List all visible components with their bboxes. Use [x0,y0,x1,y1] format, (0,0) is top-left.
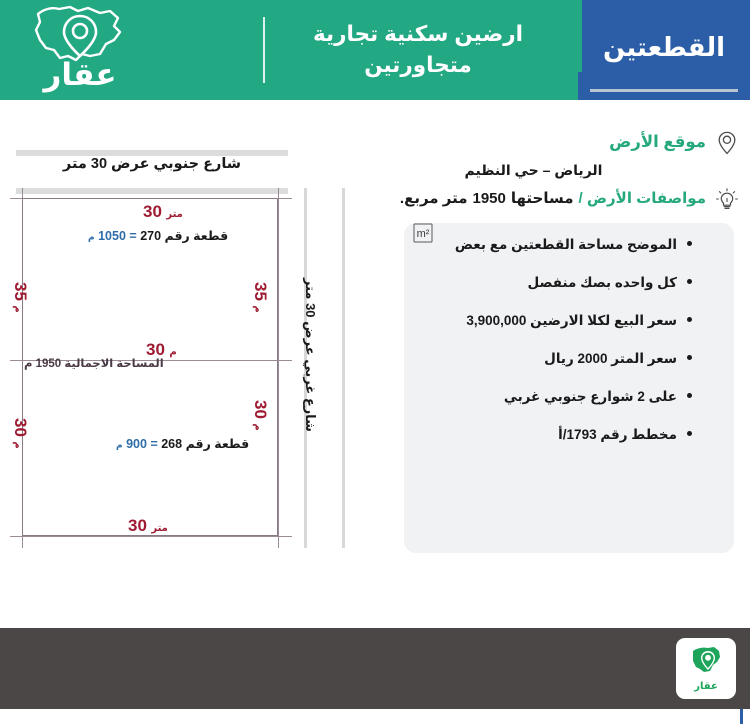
dimension-top-width-value: 30 [143,202,162,221]
header-badge-block: القطعتين [578,0,750,100]
dimension-right-upper: م 35 [250,282,270,313]
list-item-text: على 2 شوارع جنوبي غربي [504,389,677,405]
spec-details-card: m² الموضح مساحة القطعتين مع بعض كل واحده… [404,223,734,553]
list-item: الموضح مساحة القطعتين مع بعض [416,237,722,253]
spec-area-value: 1950 [473,190,506,207]
footer-brand-logo[interactable]: عقار [676,638,736,699]
spec-line: مواصفات الأرض / مساحتها 1950 متر مربع. [400,187,706,207]
bullet-dot-icon [687,431,692,436]
header-vertical-divider [263,17,265,83]
badge-underline [590,89,738,92]
page-body: شارع جنوبي عرض 30 متر متر 30 قطعة رقم 27… [0,100,750,628]
bullet-dot-icon [687,279,692,284]
spec-area-word: مساحتها [511,189,574,207]
dimension-left-upper-value: 35 [11,282,30,301]
spec-label: مواصفات الأرض / [579,189,706,207]
dimension-top-width: متر 30 [143,202,183,222]
lightbulb-icon [714,187,740,213]
lower-plot-area: 900 [126,437,147,451]
location-value: الرياض – حي النظيم [361,162,706,179]
bullet-dot-icon [687,241,692,246]
upper-plot-label-text: قطعة رقم [165,229,229,243]
spec-row: مواصفات الأرض / مساحتها 1950 متر مربع. [395,187,740,213]
land-plot-diagram: شارع جنوبي عرض 30 متر متر 30 قطعة رقم 27… [8,140,348,595]
street-right-band: شارع غربي عرض 30 متر [304,188,346,548]
land-info-panel: موقع الأرض الرياض – حي النظيم مواصفات ال… [395,130,740,610]
upper-plot-unit: م [88,232,95,242]
bullet-dot-icon [687,355,692,360]
dimension-bottom-width: متر 30 [128,516,168,536]
dimension-left-upper: م 35 [10,282,30,313]
spec-bullet-list: الموضح مساحة القطعتين مع بعض كل واحده بص… [416,237,722,443]
list-item-text: سعر البيع لكلا الارضين 3,900,000 [466,313,677,329]
dimension-left-lower-value: 30 [11,418,30,437]
lower-plot-unit: م [116,440,123,450]
bullet-dot-icon [687,393,692,398]
page-title-line2: متجاورتين [364,53,472,77]
upper-plot-area: 1050 [98,229,126,243]
header-green-block: ارضين سكنية تجارية متجاورتين عقار [0,0,578,100]
upper-plot-number: 270 [140,229,161,243]
footer-brand-name: عقار [694,681,718,692]
page-header: القطعتين ارضين سكنية تجارية متجاورتين عق… [0,0,750,100]
square-meter-icon: m² [410,221,434,245]
dimension-left-lower-unit: م [12,441,23,448]
lower-plot-eq: = [150,437,157,451]
dimension-left-lower: م 30 [10,418,30,449]
street-top-band-inner [16,188,288,194]
spec-area-unit: متر مربع. [400,189,468,207]
total-area-label: المساحة الاجمالية 1950 م [24,356,164,370]
page-title: ارضين سكنية تجارية متجاورتين [313,19,523,80]
plot-guide-right [278,188,279,548]
upper-plot-label: قطعة رقم 270 = 1050 م [88,228,228,243]
dimension-top-width-unit: متر [166,209,183,220]
header-badge-title: القطعتين [603,32,725,63]
street-top-label: شارع جنوبي عرض 30 متر [16,156,288,172]
lower-plot-label-text: قطعة رقم [186,437,250,451]
lower-plot-number: 268 [161,437,182,451]
page-footer: عقار [0,628,750,709]
brand-name: عقار [44,62,117,88]
list-item: سعر البيع لكلا الارضين 3,900,000 [416,313,722,329]
svg-text:m²: m² [417,228,430,240]
saudi-map-pin-icon [689,645,723,680]
dimension-right-lower-value: 30 [251,400,270,419]
dimension-bottom-width-value: 30 [128,516,147,535]
list-item: على 2 شوارع جنوبي غربي [416,389,722,405]
location-title: موقع الأرض [609,130,706,152]
dimension-right-lower-unit: م [252,423,263,430]
list-item: سعر المتر 2000 ريال [416,351,722,367]
street-right-line-right [342,188,345,548]
street-right-label: شارع غربي عرض 30 متر [302,278,318,432]
map-pin-icon [714,130,740,156]
dimension-right-lower: م 30 [250,400,270,431]
list-item-text: كل واحده بصك منفصل [527,275,677,291]
brand-logo: عقار [14,4,146,100]
green-edge-accent [578,0,582,72]
dimension-right-upper-value: 35 [251,282,270,301]
header-title-wrap: ارضين سكنية تجارية متجاورتين [268,0,568,100]
list-item: كل واحده بصك منفصل [416,275,722,291]
list-item-text: مخطط رقم 1793/أ [558,427,677,443]
list-item-text: الموضح مساحة القطعتين مع بعض [455,237,677,253]
page-title-line1: ارضين سكنية تجارية [313,22,523,46]
upper-plot-eq: = [129,229,136,243]
list-item-text: سعر المتر 2000 ريال [544,351,677,367]
lower-plot-label: قطعة رقم 268 = 900 م [116,436,249,451]
list-item: مخطط رقم 1793/أ [416,427,722,443]
bullet-dot-icon [687,317,692,322]
dimension-right-upper-unit: م [252,305,263,312]
dimension-bottom-width-unit: متر [151,523,168,534]
dimension-middle-width-unit: م [169,347,176,358]
plot-guide-bottom [10,536,292,537]
dimension-left-upper-unit: م [12,305,23,312]
location-row: موقع الأرض [395,130,740,156]
